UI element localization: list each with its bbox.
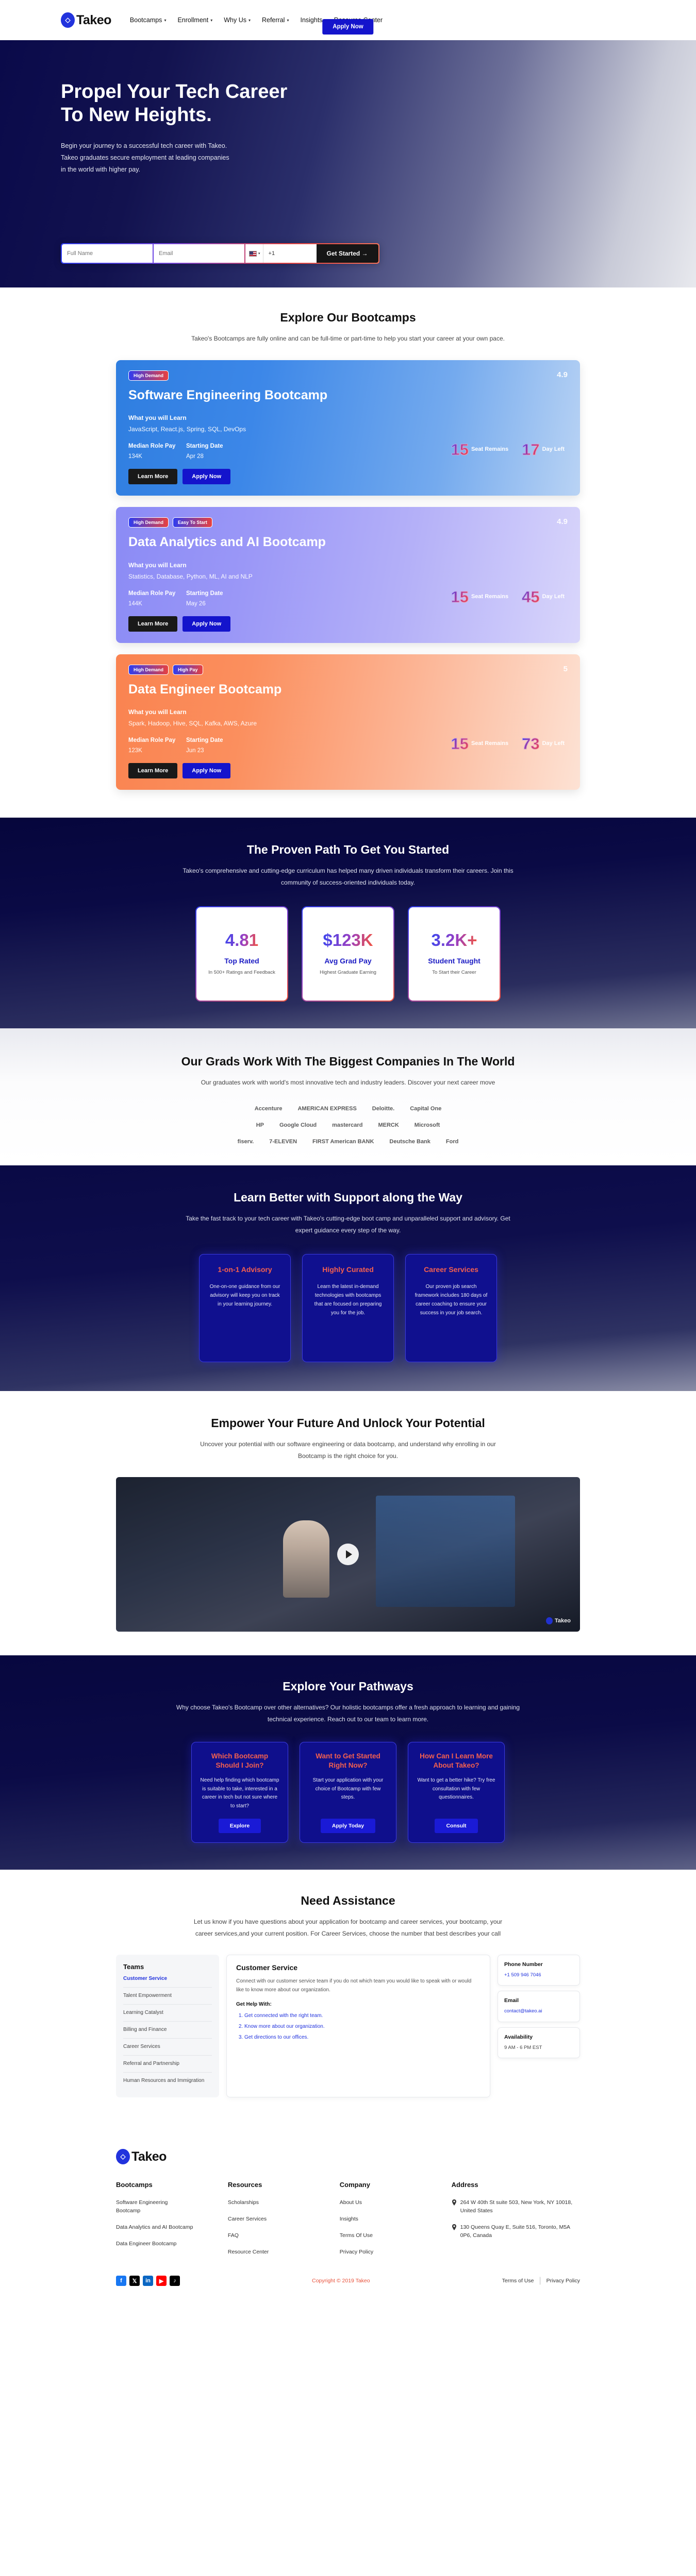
starting-date-label: Starting Date — [186, 737, 244, 743]
get-help-label: Get Help With: — [236, 2002, 480, 2007]
full-name-input[interactable] — [62, 244, 153, 263]
median-pay-value: 134K — [128, 453, 186, 460]
footer-col-company: Company About Us Insights Terms Of Use P… — [340, 2181, 452, 2264]
learn-more-button[interactable]: Learn More — [128, 763, 177, 778]
bootcamp-counters: 15 Seat Remains 73 Day Left — [451, 736, 565, 752]
proven-path-section: The Proven Path To Get You Started Takeo… — [0, 818, 696, 1028]
takeo-diamond-icon — [546, 1617, 553, 1624]
company-logo-row: fiserv. 7-ELEVEN FIRST American BANK Deu… — [238, 1139, 459, 1145]
footer-link-career-services[interactable]: Career Services — [228, 2215, 305, 2224]
bootcamp-counters: 15 Seat Remains 17 Day Left — [451, 442, 565, 457]
apply-today-button[interactable]: Apply Today — [321, 1819, 375, 1833]
stat-title: Student Taught — [428, 957, 480, 965]
footer-link-insights[interactable]: Insights — [340, 2215, 417, 2224]
assistance-title: Need Assistance — [0, 1893, 696, 1909]
tag-list: High Demand — [128, 370, 568, 381]
logo-ford: Ford — [446, 1139, 458, 1145]
nav-item-referral[interactable]: Referral ▾ — [262, 16, 289, 24]
pathway-card-which-bootcamp: Which Bootcamp Should I Join? Need help … — [191, 1742, 288, 1843]
bootcamp-skills: Statistics, Database, Python, ML, AI and… — [128, 573, 568, 580]
customer-service-panel: Customer Service Connect with our custom… — [226, 1955, 490, 2097]
tiktok-icon[interactable]: ♪ — [170, 2276, 180, 2286]
rating-value: 4.9 — [557, 517, 568, 526]
days-value: 45 — [522, 589, 539, 605]
email-value[interactable]: contact@takeo.ai — [504, 2007, 573, 2015]
seats-value: 15 — [451, 442, 468, 457]
contact-info-column: Phone Number +1 509 946 7046 Email conta… — [498, 1955, 580, 2097]
help-items-list: Get connected with the right team. Know … — [244, 2011, 480, 2042]
bootcamp-skills: JavaScript, React.js, Spring, SQL, DevOp… — [128, 426, 568, 433]
hero-section: Propel Your Tech Career To New Heights. … — [0, 40, 696, 287]
need-assistance-section: Need Assistance Let us know if you have … — [0, 1870, 696, 2124]
takeo-diamond-icon: ◇ — [116, 2149, 130, 2164]
footer-col-bootcamps: Bootcamps Software Engineering Bootcamp … — [116, 2181, 228, 2264]
support-card-career-services: Career Services Our proven job search fr… — [405, 1254, 497, 1362]
team-item-learning-catalyst[interactable]: Learning Catalyst — [123, 2005, 212, 2022]
location-pin-icon — [452, 2224, 457, 2230]
teams-heading: Teams — [123, 1963, 212, 1971]
chevron-down-icon: ▾ — [164, 18, 166, 23]
phone-input[interactable] — [263, 244, 317, 263]
pathway-card-get-started: Want to Get Started Right Now? Start you… — [300, 1742, 396, 1843]
chevron-down-icon: ▾ — [287, 18, 289, 23]
seats-value: 15 — [451, 736, 468, 752]
hero-title: Propel Your Tech Career To New Heights. — [61, 80, 308, 127]
divider: | — [539, 2276, 541, 2285]
stat-description: To Start their Career — [432, 969, 476, 976]
support-card-desc: One-on-one guidance from our advisory wi… — [208, 1282, 282, 1309]
seats-label: Seat Remains — [471, 446, 508, 453]
footer-col-heading: Resources — [228, 2181, 340, 2189]
logo-deloitte: Deloitte. — [372, 1106, 394, 1112]
what-you-will-learn-label: What you will Learn — [128, 414, 568, 421]
median-pay-label: Median Role Pay — [128, 737, 186, 743]
days-counter: 73 Day Left — [522, 736, 565, 752]
days-label: Day Left — [542, 740, 565, 747]
what-you-will-learn-label: What you will Learn — [128, 708, 568, 716]
play-button-icon[interactable] — [337, 1544, 359, 1565]
badge-high-demand: High Demand — [128, 517, 169, 528]
bootcamp-counters: 15 Seat Remains 45 Day Left — [451, 589, 565, 605]
logo-capital-one: Capital One — [410, 1106, 441, 1112]
stat-value: 3.2K+ — [432, 931, 477, 948]
support-card-title: Highly Curated — [322, 1265, 374, 1274]
phone-heading: Phone Number — [504, 1961, 573, 1968]
footer-link-data-analytics[interactable]: Data Analytics and AI Bootcamp — [116, 2224, 193, 2232]
bootcamp-card[interactable]: High Demand 4.9 Software Engineering Boo… — [116, 360, 580, 496]
site-footer: ◇ Takeo Bootcamps Software Engineering B… — [0, 2124, 696, 2299]
bootcamp-card-list: High Demand 4.9 Software Engineering Boo… — [0, 360, 696, 790]
seats-label: Seat Remains — [471, 594, 508, 600]
assistance-subtitle: Let us know if you have questions about … — [188, 1916, 508, 1940]
support-card-title: 1-on-1 Advisory — [218, 1265, 272, 1274]
pathway-card-desc: Need help finding which bootcamp is suit… — [200, 1776, 279, 1812]
logo-accenture: Accenture — [255, 1106, 283, 1112]
get-started-button[interactable]: Get Started → — [317, 244, 378, 263]
proven-title: The Proven Path To Get You Started — [0, 842, 696, 858]
days-counter: 17 Day Left — [522, 442, 565, 457]
tag-list: High Demand High Pay — [128, 665, 568, 675]
support-card-desc: Learn the latest in-demand technologies … — [311, 1282, 385, 1317]
help-item[interactable]: Know more about our organization. — [244, 2022, 480, 2031]
badge-high-demand: High Demand — [128, 665, 169, 675]
consult-button[interactable]: Consult — [435, 1819, 477, 1833]
social-links: f 𝕏 in ▶ ♪ — [116, 2276, 180, 2286]
empower-title: Empower Your Future And Unlock Your Pote… — [0, 1416, 696, 1431]
footer-legal-links: Terms of Use | Privacy Policy — [502, 2276, 580, 2285]
panel-description: Connect with our customer service team i… — [236, 1977, 480, 1994]
footer-terms-of-use-link[interactable]: Terms of Use — [502, 2278, 534, 2284]
footer-col-heading: Address — [452, 2181, 580, 2189]
learn-subtitle: Take the fast track to your tech career … — [178, 1213, 518, 1236]
support-card-desc: Our proven job search framework includes… — [414, 1282, 488, 1317]
median-pay-value: 123K — [128, 748, 186, 754]
team-item-customer-service[interactable]: Customer Service — [123, 1971, 212, 1988]
nav-item-label: Why Us — [224, 16, 246, 24]
bootcamp-skills: Spark, Hadoop, Hive, SQL, Kafka, AWS, Az… — [128, 720, 568, 727]
brand-logo[interactable]: ◇ Takeo — [61, 12, 111, 28]
email-input[interactable] — [154, 244, 244, 263]
grads-subtitle: Our graduates work with world's most inn… — [188, 1077, 508, 1089]
nav-item-label: Referral — [262, 16, 285, 24]
days-counter: 45 Day Left — [522, 589, 565, 605]
promo-video-player[interactable]: Takeo — [116, 1477, 580, 1632]
logo-google-cloud: Google Cloud — [279, 1122, 317, 1128]
video-brand-watermark: Takeo — [546, 1617, 571, 1624]
pathway-card-desc: Want to get a better hike? Try free cons… — [417, 1776, 496, 1812]
youtube-icon[interactable]: ▶ — [156, 2276, 167, 2286]
bootcamp-title: Data Engineer Bootcamp — [128, 682, 350, 698]
pathway-card-learn-more: How Can I Learn More About Takeo? Want t… — [408, 1742, 505, 1843]
logo-american-express: AMERICAN EXPRESS — [297, 1106, 356, 1112]
footer-brand-logo[interactable]: ◇ Takeo — [116, 2149, 580, 2164]
empower-section: Empower Your Future And Unlock Your Pote… — [0, 1391, 696, 1655]
logo-deutsche-bank: Deutsche Bank — [389, 1139, 430, 1145]
badge-high-demand: High Demand — [128, 370, 169, 381]
hero-signup-form: ▾ Get Started → — [61, 243, 379, 264]
phone-info-box: Phone Number +1 509 946 7046 — [498, 1955, 580, 1986]
facebook-icon[interactable]: f — [116, 2276, 126, 2286]
top-navigation: ◇ Takeo Bootcamps ▾ Enrollment ▾ Why Us … — [0, 0, 696, 40]
footer-col-heading: Bootcamps — [116, 2181, 228, 2189]
seats-counter: 15 Seat Remains — [451, 442, 508, 457]
footer-col-address: Address 264 W 40th St suite 503, New Yor… — [452, 2181, 580, 2264]
badge-easy-to-start: Easy To Start — [173, 517, 212, 528]
team-item-billing-and-finance[interactable]: Billing and Finance — [123, 2022, 212, 2039]
grads-title: Our Grads Work With The Biggest Companie… — [0, 1054, 696, 1070]
nav-item-label: Bootcamps — [130, 16, 162, 24]
support-card-title: Career Services — [424, 1265, 478, 1274]
page-root: ◇ Takeo Bootcamps ▾ Enrollment ▾ Why Us … — [0, 0, 696, 2299]
stat-title: Top Rated — [224, 957, 259, 965]
availability-value: 9 AM - 6 PM EST — [504, 2044, 573, 2052]
what-you-will-learn-label: What you will Learn — [128, 562, 568, 569]
pathways-section: Explore Your Pathways Why choose Takeo's… — [0, 1655, 696, 1869]
nav-item-enrollment[interactable]: Enrollment ▾ — [177, 16, 212, 24]
takeo-diamond-icon: ◇ — [61, 12, 75, 28]
pathways-subtitle: Why choose Takeo's Bootcamp over other a… — [173, 1702, 523, 1725]
footer-link-software-engineering[interactable]: Software Engineering Bootcamp — [116, 2199, 193, 2215]
team-item-career-services[interactable]: Career Services — [123, 2039, 212, 2056]
pathway-card-title: Which Bootcamp Should I Join? — [200, 1752, 279, 1770]
seats-counter: 15 Seat Remains — [451, 589, 508, 605]
days-value: 73 — [522, 736, 539, 752]
nav-item-label: Enrollment — [177, 16, 208, 24]
us-flag-icon — [249, 251, 257, 257]
nav-item-insights[interactable]: Insights — [300, 16, 322, 24]
learn-better-section: Learn Better with Support along the Way … — [0, 1165, 696, 1391]
email-info-box: Email contact@takeo.ai — [498, 1991, 580, 2022]
pathways-title: Explore Your Pathways — [0, 1679, 696, 1694]
linkedin-icon[interactable]: in — [143, 2276, 153, 2286]
chevron-down-icon: ▾ — [210, 18, 212, 23]
support-card-row: 1-on-1 Advisory One-on-one guidance from… — [0, 1254, 696, 1362]
seats-value: 15 — [451, 589, 468, 605]
starting-date-value: May 26 — [186, 601, 244, 607]
bootcamp-card[interactable]: High Demand High Pay 5 Data Engineer Boo… — [116, 654, 580, 790]
footer-col-resources: Resources Scholarships Career Services F… — [228, 2181, 340, 2264]
stat-value: 4.81 — [225, 931, 258, 948]
starting-date-value: Jun 23 — [186, 748, 244, 754]
proven-subtitle: Takeo's comprehensive and cutting-edge c… — [178, 865, 518, 889]
pathway-card-title: Want to Get Started Right Now? — [308, 1752, 388, 1770]
copyright-text: Copyright © 2019 Takeo — [312, 2278, 370, 2284]
stat-description: Highest Graduate Earning — [320, 969, 376, 976]
footer-link-terms-of-use[interactable]: Terms Of Use — [340, 2232, 417, 2240]
team-item-referral-and-partnership[interactable]: Referral and Partnership — [123, 2056, 212, 2073]
rating-value: 4.9 — [557, 370, 568, 379]
starting-date-value: Apr 28 — [186, 453, 244, 460]
chevron-down-icon: ▾ — [248, 18, 251, 23]
video-brand-label: Takeo — [555, 1618, 571, 1624]
assistance-grid: Teams Customer Service Talent Empowermen… — [116, 1955, 580, 2097]
footer-link-scholarships[interactable]: Scholarships — [228, 2199, 305, 2207]
stats-row: 4.81 Top Rated In 500+ Ratings and Feedb… — [0, 906, 696, 1002]
logo-microsoft: Microsoft — [415, 1122, 440, 1128]
footer-link-privacy-policy[interactable]: Privacy Policy — [340, 2248, 417, 2257]
apply-now-button[interactable]: Apply Now — [183, 763, 230, 778]
logo-fiserv: fiserv. — [238, 1139, 254, 1145]
nav-item-label: Insights — [300, 16, 322, 24]
team-item-talent-empowerment[interactable]: Talent Empowerment — [123, 1988, 212, 2005]
apply-now-button[interactable]: Apply Now — [183, 469, 230, 484]
footer-privacy-policy-link[interactable]: Privacy Policy — [546, 2278, 580, 2284]
support-card-advisory: 1-on-1 Advisory One-on-one guidance from… — [199, 1254, 291, 1362]
availability-heading: Availability — [504, 2034, 573, 2040]
explore-button[interactable]: Explore — [219, 1819, 261, 1833]
apply-now-nav-button[interactable]: Apply Now — [322, 19, 373, 35]
address-text: 130 Queens Quay E, Suite 516, Toronto, M… — [460, 2224, 580, 2240]
x-icon[interactable]: 𝕏 — [129, 2276, 140, 2286]
days-value: 17 — [522, 442, 539, 457]
median-pay-value: 144K — [128, 601, 186, 607]
learn-title: Learn Better with Support along the Way — [0, 1190, 696, 1206]
logo-hp: HP — [256, 1122, 264, 1128]
footer-col-heading: Company — [340, 2181, 452, 2189]
footer-link-resource-center[interactable]: Resource Center — [228, 2248, 305, 2257]
pathway-card-desc: Start your application with your choice … — [308, 1776, 388, 1812]
brand-name: Takeo — [76, 13, 111, 28]
pathway-card-row: Which Bootcamp Should I Join? Need help … — [0, 1742, 696, 1843]
stat-value: $123K — [323, 931, 373, 948]
logo-seven-eleven: 7-ELEVEN — [269, 1139, 297, 1145]
bootcamps-section: Explore Our Bootcamps Takeo's Bootcamps … — [0, 287, 696, 790]
rating-value: 5 — [564, 665, 568, 673]
bootcamp-card[interactable]: High Demand Easy To Start 4.9 Data Analy… — [116, 507, 580, 643]
footer-bottom-bar: f 𝕏 in ▶ ♪ Copyright © 2019 Takeo Terms … — [116, 2276, 580, 2286]
logo-first-american-bank: FIRST American BANK — [312, 1139, 374, 1145]
bootcamp-actions: Learn More Apply Now — [128, 469, 568, 484]
starting-date-label: Starting Date — [186, 443, 244, 449]
team-item-human-resources[interactable]: Human Resources and Immigration — [123, 2073, 212, 2089]
starting-date-label: Starting Date — [186, 590, 244, 597]
address-row: 130 Queens Quay E, Suite 516, Toronto, M… — [452, 2224, 580, 2240]
bootcamp-actions: Learn More Apply Now — [128, 616, 568, 632]
teams-list-panel: Teams Customer Service Talent Empowermen… — [116, 1955, 219, 2097]
stat-description: In 500+ Ratings and Feedback — [208, 969, 275, 976]
learn-more-button[interactable]: Learn More — [128, 469, 177, 484]
availability-info-box: Availability 9 AM - 6 PM EST — [498, 2027, 580, 2058]
footer-link-data-engineer[interactable]: Data Engineer Bootcamp — [116, 2240, 193, 2248]
help-item[interactable]: Get directions to our offices. — [244, 2033, 480, 2042]
email-heading: Email — [504, 1997, 573, 2004]
chevron-down-icon[interactable]: ▾ — [258, 251, 260, 256]
footer-columns: Bootcamps Software Engineering Bootcamp … — [116, 2181, 580, 2264]
phone-value[interactable]: +1 509 946 7046 — [504, 1971, 573, 1979]
bootcamps-subtitle: Takeo's Bootcamps are fully online and c… — [188, 333, 508, 345]
seats-label: Seat Remains — [471, 740, 508, 747]
days-label: Day Left — [542, 594, 565, 600]
company-logo-rows: Accenture AMERICAN EXPRESS Deloitte. Cap… — [0, 1106, 696, 1145]
seats-counter: 15 Seat Remains — [451, 736, 508, 752]
logo-mastercard: mastercard — [332, 1122, 362, 1128]
days-label: Day Left — [542, 446, 565, 453]
footer-link-faq[interactable]: FAQ — [228, 2232, 305, 2240]
footer-link-about-us[interactable]: About Us — [340, 2199, 417, 2207]
address-row: 264 W 40th St suite 503, New York, NY 10… — [452, 2199, 580, 2215]
panel-heading: Customer Service — [236, 1963, 480, 1972]
badge-high-pay: High Pay — [173, 665, 203, 675]
bootcamp-title: Data Analytics and AI Bootcamp — [128, 535, 350, 550]
stat-card: 3.2K+ Student Taught To Start their Care… — [408, 906, 501, 1002]
help-item[interactable]: Get connected with the right team. — [244, 2011, 480, 2020]
company-logo-row: Accenture AMERICAN EXPRESS Deloitte. Cap… — [255, 1106, 442, 1112]
learn-more-button[interactable]: Learn More — [128, 616, 177, 632]
bootcamp-actions: Learn More Apply Now — [128, 763, 568, 778]
video-thumbnail-subject — [283, 1520, 329, 1598]
pathway-card-title: How Can I Learn More About Takeo? — [417, 1752, 496, 1770]
apply-now-button[interactable]: Apply Now — [183, 616, 230, 632]
nav-item-why-us[interactable]: Why Us ▾ — [224, 16, 251, 24]
median-pay-label: Median Role Pay — [128, 443, 186, 449]
tag-list: High Demand Easy To Start — [128, 517, 568, 528]
median-pay-label: Median Role Pay — [128, 590, 186, 597]
grads-companies-section: Our Grads Work With The Biggest Companie… — [0, 1028, 696, 1166]
empower-subtitle: Uncover your potential with our software… — [188, 1438, 508, 1462]
hero-subtitle: Begin your journey to a successful tech … — [61, 140, 231, 176]
company-logo-row: HP Google Cloud mastercard MERCK Microso… — [256, 1122, 440, 1128]
stat-title: Avg Grad Pay — [324, 957, 371, 965]
footer-brand-name: Takeo — [131, 2149, 167, 2164]
stat-card: $123K Avg Grad Pay Highest Graduate Earn… — [302, 906, 394, 1002]
location-pin-icon — [452, 2199, 457, 2206]
support-card-curated: Highly Curated Learn the latest in-deman… — [302, 1254, 394, 1362]
bootcamps-title: Explore Our Bootcamps — [0, 310, 696, 326]
stat-card: 4.81 Top Rated In 500+ Ratings and Feedb… — [195, 906, 288, 1002]
logo-merck: MERCK — [378, 1122, 399, 1128]
bootcamp-title: Software Engineering Bootcamp — [128, 388, 350, 403]
phone-field-group[interactable]: ▾ — [245, 244, 317, 263]
nav-item-bootcamps[interactable]: Bootcamps ▾ — [130, 16, 167, 24]
address-text: 264 W 40th St suite 503, New York, NY 10… — [460, 2199, 580, 2215]
